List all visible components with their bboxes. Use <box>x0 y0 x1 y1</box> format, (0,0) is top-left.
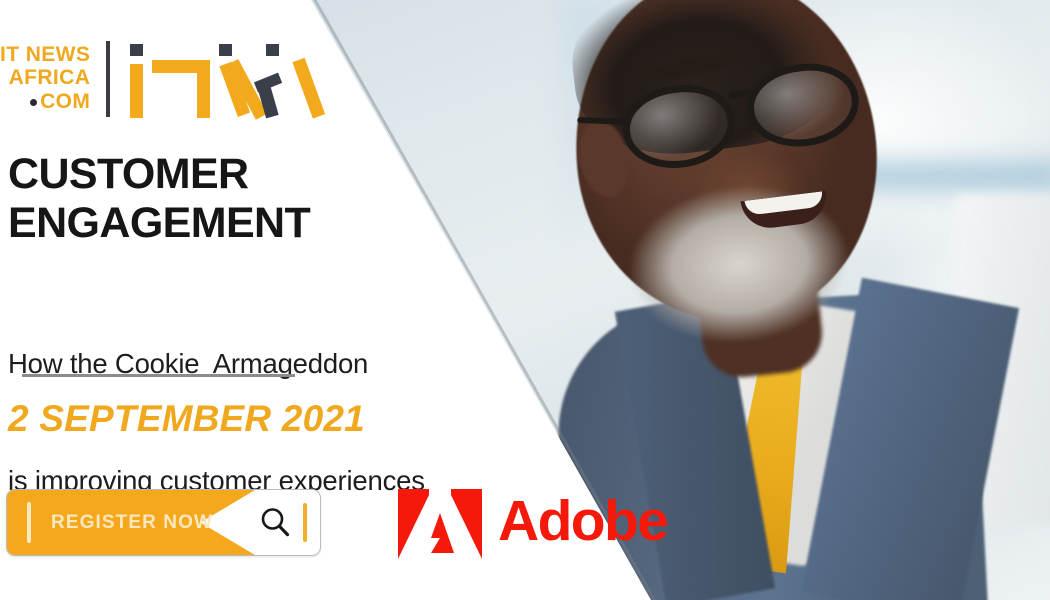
brand-wordmark-line3-wrap: COM <box>30 91 90 113</box>
register-now-button[interactable]: REGISTER NOW <box>6 489 321 556</box>
adobe-sponsor-logo[interactable]: Adobe <box>398 487 667 561</box>
brand-wordmark: IT NEWS AFRICA COM <box>0 44 104 113</box>
banner-headline: CUSTOMER ENGAGEMENT <box>8 150 310 247</box>
search-icon[interactable] <box>259 506 291 538</box>
brand-wordmark-line1: IT NEWS <box>0 44 90 66</box>
subtitle-line-1: How the Cookie Armageddon <box>8 344 425 383</box>
brand-logo[interactable]: IT NEWS AFRICA COM <box>0 36 318 122</box>
brand-wordmark-line3: COM <box>40 91 90 113</box>
register-button-left-bar <box>27 502 31 543</box>
event-date: 2 SEPTEMBER 2021 <box>8 398 365 440</box>
content-divider-rule <box>22 374 295 377</box>
register-button-right-bar <box>303 503 307 542</box>
banner-content: IT NEWS AFRICA COM <box>0 0 1050 600</box>
register-button-label: REGISTER NOW <box>51 490 213 555</box>
itna-lettermark-icon <box>126 38 318 120</box>
brand-wordmark-line2: AFRICA <box>0 67 90 89</box>
brand-logo-divider <box>106 41 110 117</box>
headline-line-2: ENGAGEMENT <box>8 199 310 248</box>
webinar-promo-banner: IT NEWS AFRICA COM <box>0 0 1050 600</box>
headline-line-1: CUSTOMER <box>8 150 310 199</box>
bullet-dot-icon <box>30 99 37 106</box>
adobe-a-mark-icon <box>398 487 482 561</box>
adobe-wordmark: Adobe <box>498 493 667 556</box>
